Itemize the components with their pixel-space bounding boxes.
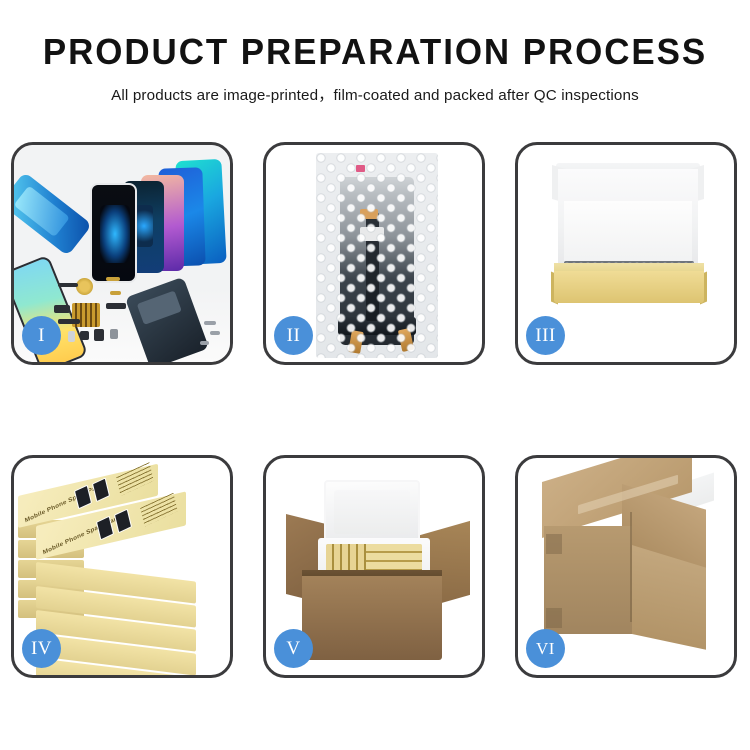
foam-box-lid [324,480,420,544]
page-subtitle: All products are image-printed，film-coat… [0,83,750,105]
small-part [54,305,70,313]
small-part [200,341,209,345]
step-badge-6: VI [526,629,565,668]
step-panel-1: I [11,142,233,365]
step-panel-4: Mobile Phone Spare Parts Mobile Phone Sp… [11,455,233,678]
screen-protector [90,183,137,283]
step-panel-6: VI [515,455,737,678]
bubble-wrap-bag [316,153,438,358]
carton-body [302,576,442,660]
small-part [110,329,118,339]
step-badge-3: III [526,316,565,355]
tray-front-yellow [554,271,704,303]
small-part [58,283,78,287]
step-badge-1: I [22,316,61,355]
carton-tab-upper [546,534,562,554]
small-part [106,303,126,309]
carton-tab-lower [546,608,562,628]
small-part [210,331,220,335]
step-badge-2: II [274,316,313,355]
steps-grid: I II [11,142,739,678]
small-part [80,331,89,340]
step-badge-5: V [274,629,313,668]
step-badge-4: IV [22,629,61,668]
carton-vertical-edge [630,512,632,622]
box-screen-thumb [114,509,132,534]
bubble-texture [316,153,438,358]
small-part [110,291,121,295]
header: PRODUCT PREPARATION PROCESS All products… [0,0,750,105]
small-part [106,277,120,281]
small-part [204,321,216,325]
small-part [68,331,75,342]
small-part [58,319,80,324]
step-panel-3: III [515,142,737,365]
product-preparation-infographic: PRODUCT PREPARATION PROCESS All products… [0,0,750,750]
box-screen-thumb [92,477,110,502]
page-title: PRODUCT PREPARATION PROCESS [11,32,739,72]
small-part [94,329,104,341]
step-panel-2: II [263,142,485,365]
speaker-coil-part [76,278,93,295]
step-panel-5: V [263,455,485,678]
box-spec-lines [116,462,154,496]
